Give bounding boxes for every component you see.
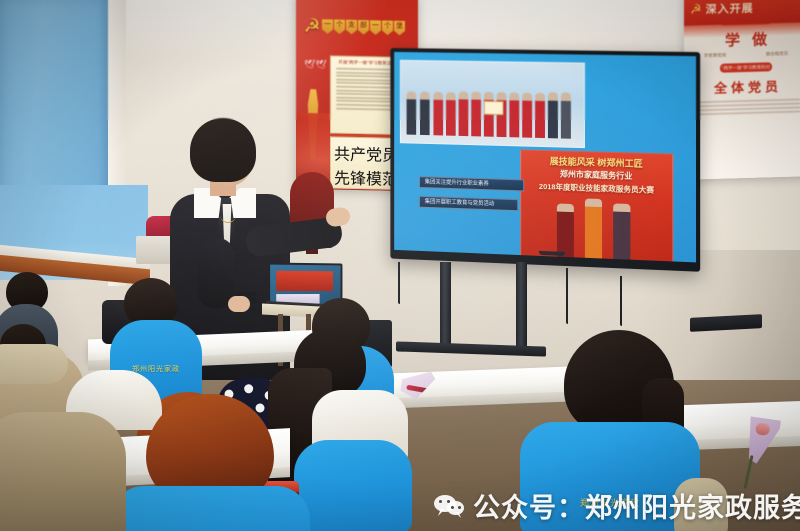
text-line [336, 93, 398, 96]
slogan-cell: 个 [334, 19, 345, 34]
text-line [336, 100, 398, 103]
award-plaque [484, 101, 504, 115]
poster-slogan-banner: 一 个 支 部 一 个 堡 [296, 13, 418, 42]
attendee-uniform-vest: 郑州阳光家政 [520, 422, 700, 531]
poster-sub-right: 做合格党员 [766, 51, 789, 58]
slide-text-box-1: 集团关注提升行业职业素养 [419, 176, 524, 191]
poster-headline-2: 全体党员 [684, 75, 800, 97]
attendee-fur-hood [0, 344, 68, 384]
presentation-tv[interactable]: 展技能风采 树郑州工匠 郑州市家庭服务行业 2018年度职业技能家政服务员大赛 … [390, 48, 700, 272]
text-line [336, 75, 398, 78]
dove-icon: 🕊🕊 [304, 59, 328, 86]
attendee-uniform-vest [294, 440, 412, 531]
text-line [336, 82, 398, 85]
text-line [336, 107, 398, 110]
text-line [336, 103, 398, 106]
poster-top-banner: ☭ 深入开展 [684, 0, 800, 26]
slogan-cell: 一 [370, 20, 381, 35]
ceremony-person [613, 203, 630, 262]
poster-tag-2: "两学一做"学习教育的对象 [720, 62, 772, 72]
poster-headline-1: 学做 [684, 27, 800, 51]
tv-cable [620, 276, 622, 326]
ceremony-person [585, 198, 602, 261]
tv-screen: 展技能风采 树郑州工匠 郑州市家庭服务行业 2018年度职业技能家政服务员大赛 … [394, 52, 696, 262]
slide-group-photo [400, 60, 585, 148]
slide-ceremony-photo: 展技能风采 树郑州工匠 郑州市家庭服务行业 2018年度职业技能家政服务员大赛 [520, 149, 673, 262]
flower-bud [755, 422, 771, 436]
slogan-cell: 一 [322, 19, 333, 34]
tv-cable [398, 262, 400, 304]
tv-stand-column-left [440, 262, 451, 350]
slogan-cell: 堡 [394, 20, 405, 35]
speaker-left-arm [198, 238, 234, 308]
hammer-and-sickle-icon: ☭ [690, 1, 702, 17]
uniform-text: 郑州阳光家政 [520, 496, 700, 509]
poster-top-banner-text: 深入开展 [706, 0, 754, 17]
speaker-hair [190, 118, 256, 182]
text-line [336, 86, 398, 89]
slogan-cell: 支 [346, 19, 357, 34]
training-session-photo: ☭ 一 个 支 部 一 个 堡 🕊🕊 开展"两学一做"学习教育活动 [0, 0, 800, 531]
slogan-cell: 个 [382, 20, 393, 35]
speaker-left-hand [228, 296, 250, 312]
poster-subcaptions: 学党章党规 做合格党员 [684, 50, 800, 59]
tv-stand-column-right [516, 262, 527, 350]
laptop-slide-thumbnail [276, 271, 333, 291]
attendee-uniform-vest: 郑州阳光家政 [110, 486, 310, 531]
photo-people-row [401, 79, 584, 139]
attendee-coat [0, 412, 126, 531]
tv-cable [566, 268, 568, 324]
party-poster-right: ☭ 深入开展 开展背景及时间 学党章党规、学系列讲话 学做 学党章党规 做合格党… [684, 0, 800, 180]
ceremony-banner-line-3: 2018年度职业技能家政服务员大赛 [521, 180, 672, 196]
text-line [336, 68, 398, 71]
attendee-sleeve [674, 478, 728, 531]
text-line [692, 110, 800, 115]
slogan-cell: 部 [358, 20, 369, 35]
poster-sub-left: 学党章党规 [704, 53, 727, 60]
poster-body-text [692, 98, 800, 115]
slide-text-box-2: 集团开展职工教育与党员活动 [419, 196, 518, 211]
